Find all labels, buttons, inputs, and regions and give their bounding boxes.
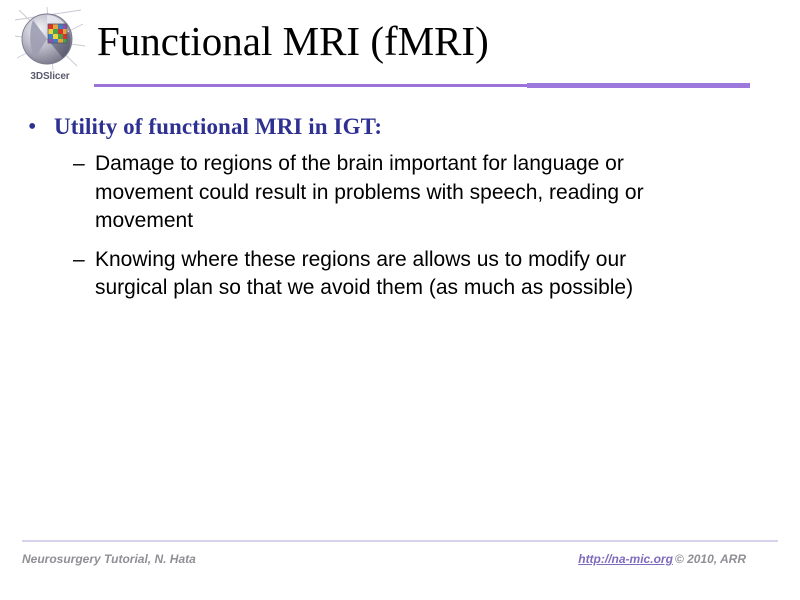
slide-body: • Utility of functional MRI in IGT: – Da…: [28, 112, 772, 313]
slide: 3DSlicer Functional MRI (fMRI) • Utility…: [0, 0, 800, 600]
bullet-level2-item: – Damage to regions of the brain importa…: [73, 150, 772, 236]
bullet-level2-text: Knowing where these regions are allows u…: [95, 246, 655, 303]
footer-attribution: Neurosurgery Tutorial, N. Hata: [22, 552, 196, 566]
footer: Neurosurgery Tutorial, N. Hata http://na…: [22, 552, 778, 566]
footer-credits: http://na-mic.org© 2010, ARR: [578, 552, 778, 566]
bullet-marker-dash: –: [73, 246, 95, 274]
title-divider-left: [94, 84, 529, 87]
bullet-level1-text: Utility of functional MRI in IGT:: [54, 112, 382, 142]
title-divider-right: [527, 83, 750, 88]
slicer-logo-icon: [13, 6, 87, 72]
slicer-logo-caption: 3DSlicer: [8, 71, 92, 82]
title-divider: [94, 82, 750, 89]
slicer-logo: 3DSlicer: [8, 6, 92, 90]
bullet-level2-list: – Damage to regions of the brain importa…: [28, 150, 772, 303]
page-title: Functional MRI (fMRI): [97, 17, 489, 65]
bullet-level2-text: Damage to regions of the brain important…: [95, 150, 655, 236]
bullet-marker-dash: –: [73, 150, 95, 178]
na-mic-link[interactable]: http://na-mic.org: [578, 552, 673, 566]
bullet-marker-dot: •: [28, 112, 54, 142]
bullet-level1: • Utility of functional MRI in IGT:: [28, 112, 772, 142]
bullet-level2-item: – Knowing where these regions are allows…: [73, 246, 772, 303]
footer-copyright: © 2010, ARR: [675, 552, 746, 566]
footer-divider: [22, 540, 778, 542]
